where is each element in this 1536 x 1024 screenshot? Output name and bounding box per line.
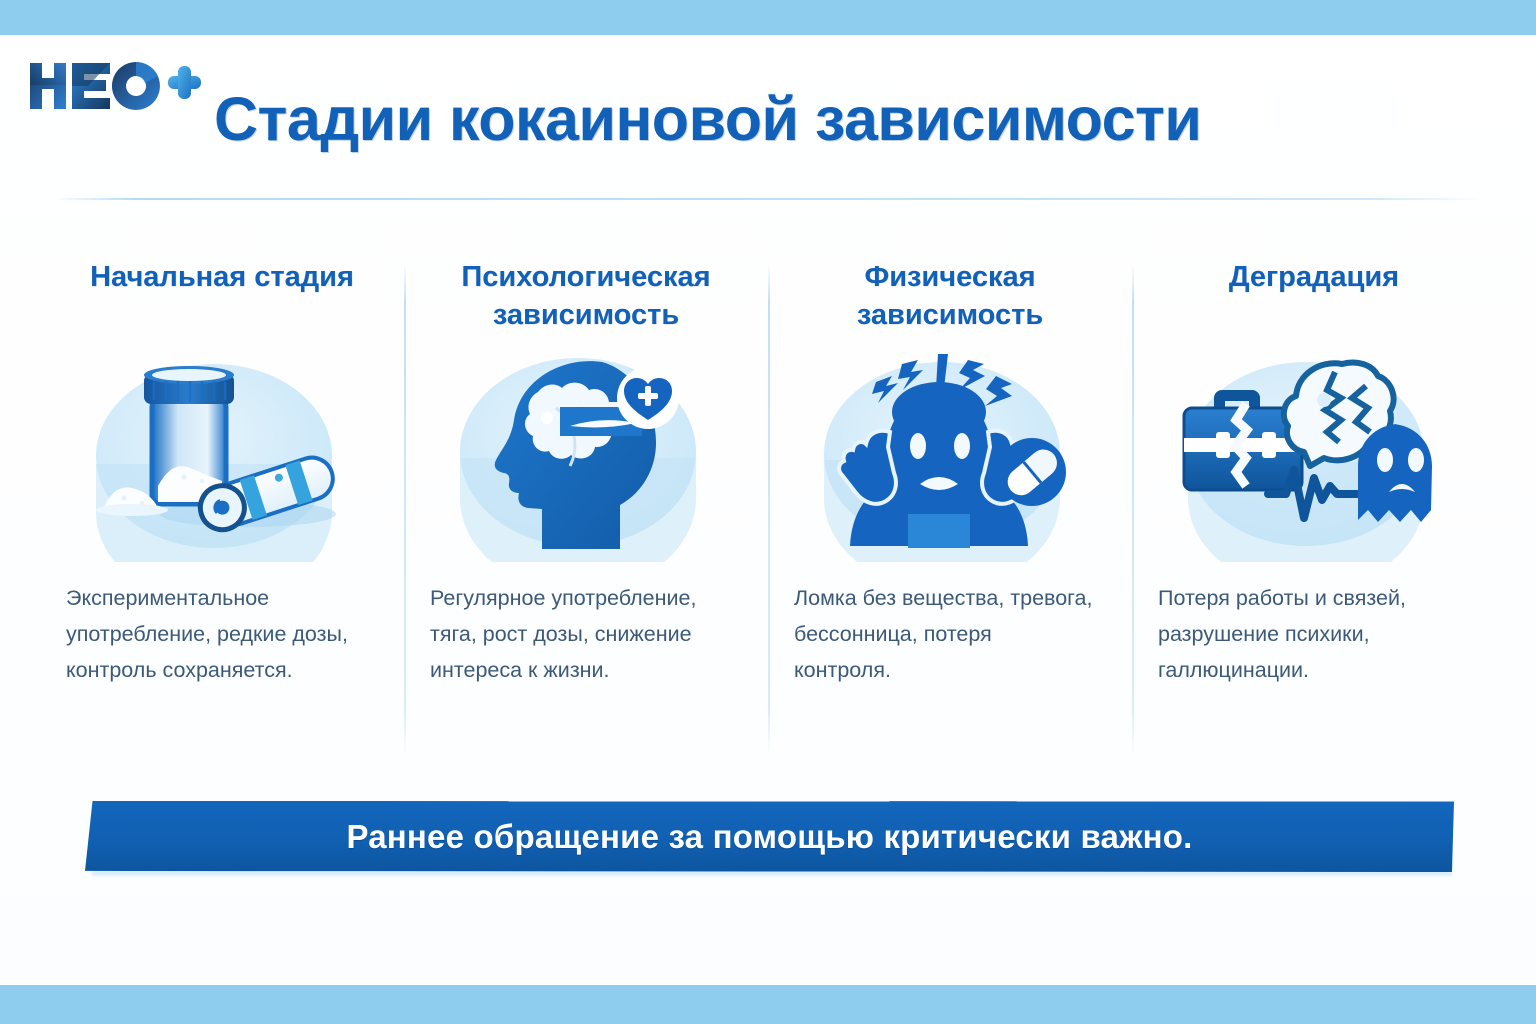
infographic-poster: Стадии кокаиновой зависимости Начальная … (0, 0, 1536, 1024)
stage-column-initial: Начальная стадия (40, 258, 404, 768)
stage-heading: Деградация (1229, 258, 1399, 338)
stage-column-degradation: Деградация (1132, 258, 1496, 768)
title-divider (52, 198, 1484, 200)
broken-briefcase-brain-ghost-icon (1180, 346, 1448, 562)
stage-column-psychological: Психологическая зависимость (404, 258, 768, 768)
stage-description: Ломка без вещества, тревога, бессонница,… (782, 580, 1094, 688)
head-brain-craving-icon (452, 346, 720, 562)
stage-description: Потеря работы и связей, разрушение психи… (1146, 580, 1458, 688)
stage-heading: Психологическая зависимость (418, 258, 754, 338)
drug-jar-and-rolled-bill-icon (88, 346, 356, 562)
stage-description: Экспериментальное употребление, редкие д… (54, 580, 366, 688)
stage-heading: Физическая зависимость (782, 258, 1118, 338)
withdrawal-headache-pill-icon (816, 346, 1084, 562)
stage-description: Регулярное употребление, тяга, рост дозы… (418, 580, 730, 688)
bottom-accent-band (0, 985, 1536, 1024)
stage-heading: Начальная стадия (90, 258, 354, 338)
top-accent-band (0, 0, 1536, 35)
page-title: Стадии кокаиновой зависимости (214, 84, 1201, 154)
banner-label: Раннее обращение за помощью критически в… (85, 801, 1454, 872)
stage-column-physical: Физическая зависимость (768, 258, 1132, 768)
stages-row: Начальная стадия (40, 258, 1496, 768)
neo-plus-logo (28, 57, 203, 115)
